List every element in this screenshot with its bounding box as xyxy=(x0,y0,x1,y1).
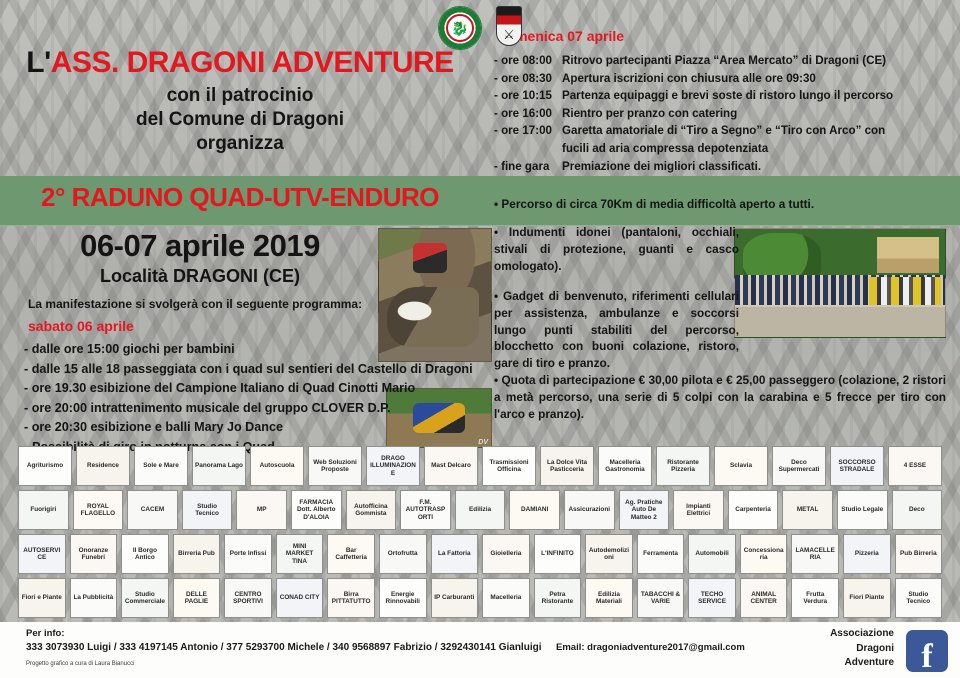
sponsor-logo: Autoscuola xyxy=(250,446,304,486)
sponsor-label: Macelleria Gastronomia xyxy=(599,458,651,474)
association-name: Associazione Dragoni Adventure xyxy=(810,627,894,671)
schedule-desc: Apertura iscrizioni con chiusura alle or… xyxy=(562,70,954,88)
sponsor-label: Carpenteria xyxy=(733,505,773,514)
sponsor-logo: DAMIANI xyxy=(509,490,560,530)
sponsor-label: F.M. AUTOTRASPORTI xyxy=(401,498,450,521)
contact-email[interactable]: Email: dragoniadventure2017@gmail.com xyxy=(556,642,745,653)
list-item: - ore 20:00 intrattenimento musicale del… xyxy=(24,399,484,419)
photo-group xyxy=(734,228,946,338)
sponsor-label: Autodemolizioni xyxy=(586,546,632,562)
sponsor-label: Studio Tecnico xyxy=(183,502,232,518)
sponsor-label: Deco xyxy=(907,505,927,514)
schedule-time: - fine gara xyxy=(494,158,562,176)
list-item: - ore 16:00 Rientro per pranzo con cater… xyxy=(494,105,954,123)
sponsor-label: AUTOSERVICE xyxy=(19,546,65,562)
sponsor-label: DAMIANI xyxy=(519,505,550,514)
sponsor-logo: Sole e Mare xyxy=(134,446,188,486)
sponsor-logo: F.M. AUTOTRASPORTI xyxy=(400,490,451,530)
facebook-icon[interactable]: f xyxy=(906,630,948,672)
sponsor-logo: 4 ESSE xyxy=(888,446,942,486)
sponsor-logo: CONAD CITY xyxy=(276,578,324,618)
sponsor-label: METAL xyxy=(795,505,821,514)
schedule-time: - ore 17:00 xyxy=(494,122,562,140)
sponsor-label: Frutta Verdura xyxy=(792,590,838,606)
sponsor-logo: Sclavia xyxy=(714,446,768,486)
sponsor-logo: Mast Delcaro xyxy=(424,446,478,486)
sponsor-label: Porte Infissi xyxy=(228,549,269,558)
schedule-time: - ore 08:30 xyxy=(494,70,562,88)
sponsor-label: Fiori e Piante xyxy=(20,593,64,602)
sponsor-logo: SOCCORSO STRADALE xyxy=(830,446,884,486)
contact-label: Per info: xyxy=(26,628,65,639)
sponsor-logo: Agriturismo xyxy=(18,446,72,486)
sponsor-logo: IP Carburanti xyxy=(431,578,479,618)
sponsor-label: CONAD CITY xyxy=(278,593,322,602)
sponsor-logo: Onoranze Funebri xyxy=(70,534,118,574)
sponsor-logo: Studio Commerciale xyxy=(121,578,169,618)
list-item: - fine gara Premiazione dei migliori cla… xyxy=(494,158,954,176)
sponsor-label: Deco Supermercati xyxy=(773,458,825,474)
sponsor-label: Assicurazioni xyxy=(566,505,612,514)
list-item: - ore 08:00 Ritrovo partecipanti Piazza … xyxy=(494,52,954,70)
saturday-heading: sabato 06 aprile xyxy=(28,318,134,334)
sponsor-logo: Trasmissioni Officina xyxy=(482,446,536,486)
sponsor-label: Birreria Pub xyxy=(176,549,217,558)
sponsor-label: Fiori Piante xyxy=(847,593,886,602)
sponsor-row: FuorigiriROYAL FLAGELLOCACEMStudio Tecni… xyxy=(18,490,942,530)
sponsor-row: Fiori e PianteLa PubblicitàStudio Commer… xyxy=(18,578,942,618)
sponsor-label: Edilizia Materiali xyxy=(586,590,632,606)
schedule-time: - ore 08:00 xyxy=(494,52,562,70)
sponsor-label: Studio Tecnico xyxy=(896,590,942,606)
sponsor-label: LAMACELLERIA xyxy=(792,546,838,562)
sponsor-logo: Energie Rinnovabili xyxy=(379,578,427,618)
design-credit: Progetto grafico a cura di Laura Bianucc… xyxy=(26,661,134,667)
emblem-inner-icon: 🐉 xyxy=(446,14,474,42)
sponsor-label: Studio Legale xyxy=(839,505,885,514)
sponsor-label: Macelleria xyxy=(488,593,523,602)
sponsor-label: La Dolce Vita Pasticceria xyxy=(541,458,593,474)
subtitle-block: con il patrocinio del Comune di Dragoni … xyxy=(0,84,480,155)
sponsor-logo: Carpenteria xyxy=(728,490,779,530)
sponsor-logo: Birreria Pub xyxy=(173,534,221,574)
sponsor-logo: DELLE PAGLIE xyxy=(173,578,221,618)
sponsor-label: Sole e Mare xyxy=(141,461,181,470)
sponsor-label: CENTRO SPORTIVI xyxy=(225,590,271,606)
sponsor-label: Bar Caffetteria xyxy=(328,546,374,562)
sponsor-label: La Fattoria xyxy=(436,549,473,558)
sponsor-logo: DRAGO ILLUMINAZIONE xyxy=(366,446,420,486)
sponsor-logo: TABACCHI & VARIE xyxy=(637,578,685,618)
sponsor-logo: Studio Tecnico xyxy=(895,578,943,618)
sponsor-label: Autoscuola xyxy=(258,461,297,470)
sponsor-label: TECHO SERVICE xyxy=(689,590,735,606)
header-emblems: 🐉 ⚔ xyxy=(0,6,960,50)
sponsor-row: AUTOSERVICEOnoranze FunebriIl Borgo Anti… xyxy=(18,534,942,574)
sponsor-row: AgriturismoResidenceSole e MarePanorama … xyxy=(18,446,942,486)
sponsor-label: DRAGO ILLUMINAZIONE xyxy=(367,454,419,477)
list-item: - dalle 15 alle 18 passeggiata con i qua… xyxy=(24,360,484,380)
sponsor-label: Birra PITTATUTTO xyxy=(328,590,374,606)
sponsor-logo: Ferramenta xyxy=(637,534,685,574)
sponsor-logo: Automobili xyxy=(688,534,736,574)
sponsor-label: TABACCHI & VARIE xyxy=(638,590,684,606)
sunday-schedule-list: - ore 08:00 Ritrovo partecipanti Piazza … xyxy=(494,52,954,175)
sponsor-label: Gioielleria xyxy=(488,549,523,558)
title-association: ASS. DRAGONI ADVENTURE xyxy=(51,46,454,79)
sponsor-label: L'INFINITO xyxy=(539,549,576,558)
sponsor-label: Automobili xyxy=(693,549,730,558)
sponsor-logo-grid: AgriturismoResidenceSole e MarePanorama … xyxy=(18,446,942,622)
list-item: - ore 10:15 Partenza equipaggi e brevi s… xyxy=(494,87,954,105)
sponsor-logo: Panorama Lago xyxy=(192,446,246,486)
sponsor-logo: Macelleria Gastronomia xyxy=(598,446,652,486)
sponsor-logo: METAL xyxy=(782,490,833,530)
sponsor-label: Mast Delcaro xyxy=(429,461,473,470)
sponsor-logo: Fiori Piante xyxy=(843,578,891,618)
sponsor-label: Web Soluzioni Proposte xyxy=(309,458,361,474)
sponsor-logo: Pizzeria xyxy=(843,534,891,574)
sponsor-logo: Il Borgo Antico xyxy=(121,534,169,574)
sponsor-logo: CENTRO SPORTIVI xyxy=(224,578,272,618)
sponsor-label: FARMACIA Dott. Alberto D'ALOIA xyxy=(292,498,341,521)
sponsor-logo: Autodemolizioni xyxy=(585,534,633,574)
sponsor-logo: Fuorigiri xyxy=(18,490,69,530)
sponsor-label: Edilizia xyxy=(467,505,493,514)
footer: Per info: 333 3073930 Luigi / 333 419714… xyxy=(0,622,960,678)
sponsor-label: Onoranze Funebri xyxy=(71,546,117,562)
sponsor-logo: Macelleria xyxy=(482,578,530,618)
sponsor-label: MP xyxy=(255,505,269,514)
sponsor-logo: Edilizia Materiali xyxy=(585,578,633,618)
sponsor-label: Petra Ristorante xyxy=(535,590,581,606)
sponsor-logo: Pub Birreria xyxy=(895,534,943,574)
schedule-time xyxy=(494,140,562,158)
sponsor-logo: Porte Infissi xyxy=(224,534,272,574)
title-prefix: L' xyxy=(26,46,50,79)
schedule-desc: Partenza equipaggi e brevi soste di rist… xyxy=(562,87,954,105)
sponsor-logo: FARMACIA Dott. Alberto D'ALOIA xyxy=(291,490,342,530)
sponsor-logo: Ag. Pratiche Auto De Matteo 2 xyxy=(619,490,670,530)
sponsor-logo: Residence xyxy=(76,446,130,486)
list-item: - ore 19.30 esibizione del Campione Ital… xyxy=(24,379,484,399)
list-item: - ore 17:00 Garetta amatoriale di “Tiro … xyxy=(494,122,954,140)
sponsor-logo: Studio Tecnico xyxy=(182,490,233,530)
sponsor-label: ROYAL FLAGELLO xyxy=(74,502,123,518)
sponsor-label: Fuorigiri xyxy=(28,505,58,514)
sponsor-logo: L'INFINITO xyxy=(534,534,582,574)
building-shape xyxy=(877,237,939,273)
page-title: L'ASS. DRAGONI ADVENTURE xyxy=(0,48,480,78)
sponsor-logo: La Pubblicità xyxy=(70,578,118,618)
programme-intro: La manifestazione si svolgerà con il seg… xyxy=(28,297,362,311)
sponsor-logo: CACEM xyxy=(127,490,178,530)
sponsor-logo: AUTOSERVICE xyxy=(18,534,66,574)
bullet-services: • Gadget di benvenuto, riferimenti cellu… xyxy=(494,288,739,372)
sponsor-logo: Bar Caffetteria xyxy=(327,534,375,574)
subtitle-line-1: con il patrocinio xyxy=(0,84,480,108)
sponsor-logo: LAMACELLERIA xyxy=(791,534,839,574)
list-item: fucili ad aria compressa depotenziata xyxy=(494,140,954,158)
list-item: - ore 08:30 Apertura iscrizioni con chiu… xyxy=(494,70,954,88)
sponsor-logo: Edilizia xyxy=(455,490,506,530)
sponsor-label: Pub Birreria xyxy=(898,549,939,558)
assoc-line-1: Associazione xyxy=(810,627,894,642)
sponsor-logo: Web Soluzioni Proposte xyxy=(308,446,362,486)
comune-dragoni-coat-of-arms-icon: ⚔ xyxy=(496,6,522,46)
sponsor-logo: Impianti Elettrici xyxy=(673,490,724,530)
subtitle-line-2: del Comune di Dragoni xyxy=(0,108,480,132)
sponsor-logo: Petra Ristorante xyxy=(534,578,582,618)
sponsor-logo: La Dolce Vita Pasticceria xyxy=(540,446,594,486)
sponsor-label: Pizzeria xyxy=(853,549,881,558)
sponsor-label: La Pubblicità xyxy=(71,593,115,602)
sponsor-logo: Frutta Verdura xyxy=(791,578,839,618)
sponsor-label: ANIMAL CENTER xyxy=(741,590,787,606)
sponsor-label: Ortofrutta xyxy=(386,549,420,558)
sponsor-logo: Birra PITTATUTTO xyxy=(327,578,375,618)
sponsor-logo: Studio Legale xyxy=(837,490,888,530)
sponsor-logo: Deco Supermercati xyxy=(772,446,826,486)
sponsor-label: Agriturismo xyxy=(25,461,65,470)
list-item: - ore 20:30 esibizione e balli Mary Jo D… xyxy=(24,418,484,438)
sponsor-label: Residence xyxy=(85,461,121,470)
sponsor-label: IP Carburanti xyxy=(432,593,476,602)
sponsor-label: Sclavia xyxy=(728,461,754,470)
sponsor-label: Concessionaria xyxy=(741,546,787,562)
sponsor-logo: La Fattoria xyxy=(431,534,479,574)
sponsor-label: MINI MARKET TINA xyxy=(277,542,323,565)
sponsor-label: 4 ESSE xyxy=(902,461,928,470)
subtitle-line-3: organizza xyxy=(0,132,480,156)
sponsor-label: Autofficina Gommista xyxy=(347,502,396,518)
sponsor-logo: Ortofrutta xyxy=(379,534,427,574)
sponsor-logo: Deco xyxy=(892,490,943,530)
event-poster: 🐉 ⚔ L'ASS. DRAGONI ADVENTURE con il patr… xyxy=(0,0,960,678)
trail-rut-shape xyxy=(387,287,479,347)
event-name-title: 2° RADUNO QUAD-UTV-ENDURO xyxy=(0,182,480,213)
bullet-fees: • Quota di partecipazione € 30,00 pilota… xyxy=(494,372,946,422)
assoc-line-3: Adventure xyxy=(810,656,894,671)
contact-phones: 333 3073930 Luigi / 333 4197145 Antonio … xyxy=(26,642,542,653)
rider-shape xyxy=(413,243,447,273)
sponsor-label: Energie Rinnovabili xyxy=(380,590,426,606)
schedule-desc: Garetta amatoriale di “Tiro a Segno” e “… xyxy=(562,122,954,140)
saturday-schedule-list: - dalle ore 15:00 giochi per bambini - d… xyxy=(24,340,484,457)
event-locality: Località DRAGONI (CE) xyxy=(0,266,400,287)
schedule-time: - ore 10:15 xyxy=(494,87,562,105)
sponsor-label: DELLE PAGLIE xyxy=(174,590,220,606)
sponsor-logo: Fiori e Piante xyxy=(18,578,66,618)
sponsor-label: CACEM xyxy=(139,505,166,514)
sponsor-logo: Autofficina Gommista xyxy=(346,490,397,530)
schedule-desc: Premiazione dei migliori classificati. xyxy=(562,158,954,176)
sponsor-logo: Ristorante Pizzeria xyxy=(656,446,710,486)
sponsor-label: Il Borgo Antico xyxy=(122,546,168,562)
sponsor-logo: ROYAL FLAGELLO xyxy=(73,490,124,530)
bullet-route: • Percorso di circa 70Km di media diffic… xyxy=(494,196,946,213)
sponsor-label: Ferramenta xyxy=(641,549,680,558)
schedule-desc: Rientro per pranzo con catering xyxy=(562,105,954,123)
sponsor-logo: ANIMAL CENTER xyxy=(740,578,788,618)
parked-quads-shape xyxy=(869,277,941,305)
event-date: 06-07 aprile 2019 xyxy=(0,228,400,264)
sponsor-logo: MINI MARKET TINA xyxy=(276,534,324,574)
sponsor-logo: TECHO SERVICE xyxy=(688,578,736,618)
sponsor-logo: Concessionaria xyxy=(740,534,788,574)
sponsor-label: Ag. Pratiche Auto De Matteo 2 xyxy=(620,498,669,521)
sponsor-label: Panorama Lago xyxy=(193,461,245,470)
sponsor-label: Trasmissioni Officina xyxy=(483,458,535,474)
schedule-desc: fucili ad aria compressa depotenziata xyxy=(562,140,954,158)
sponsor-label: Studio Commerciale xyxy=(122,590,168,606)
schedule-desc: Ritrovo partecipanti Piazza “Area Mercat… xyxy=(562,52,954,70)
sponsor-logo: Gioielleria xyxy=(482,534,530,574)
assoc-line-2: Dragoni xyxy=(810,642,894,657)
sponsor-label: Ristorante Pizzeria xyxy=(657,458,709,474)
sponsor-label: SOCCORSO STRADALE xyxy=(831,458,883,474)
bullet-gear: • Indumenti idonei (pantaloni, occhiali,… xyxy=(494,224,739,274)
schedule-time: - ore 16:00 xyxy=(494,105,562,123)
association-emblem-icon: 🐉 xyxy=(438,6,482,50)
sponsor-logo: MP xyxy=(236,490,287,530)
sponsor-label: Impianti Elettrici xyxy=(674,502,723,518)
list-item: - dalle ore 15:00 giochi per bambini xyxy=(24,340,484,360)
sponsor-logo: Assicurazioni xyxy=(564,490,615,530)
